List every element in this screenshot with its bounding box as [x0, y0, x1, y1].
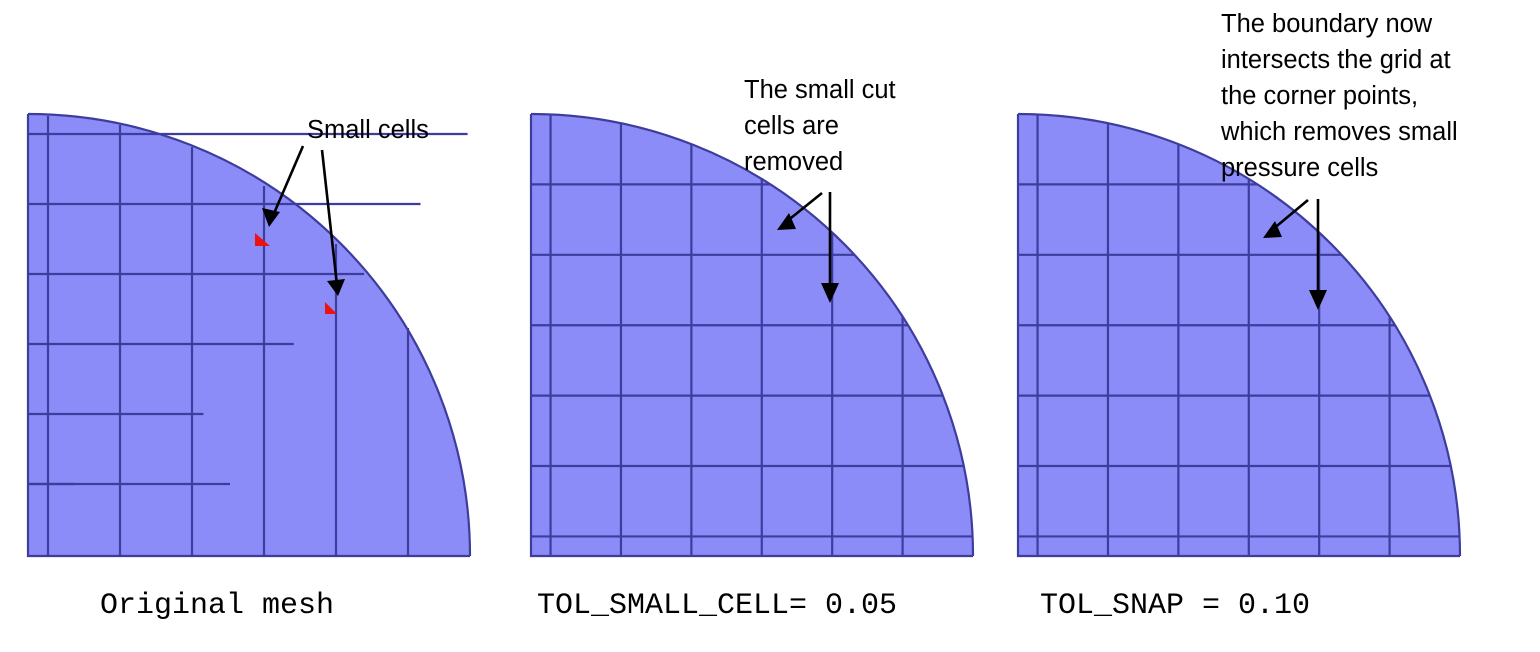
mesh-fill-tol-small-cell: [531, 114, 973, 556]
caption-tol-snap: TOL_SNAP = 0.10: [1040, 589, 1310, 623]
annotation-original-line-0: Small cells: [307, 116, 429, 144]
caption-tol-small-cell: TOL_SMALL_CELL= 0.05: [537, 589, 897, 623]
mesh-region-tol-small-cell: [531, 114, 973, 556]
mesh-region-original: [28, 114, 470, 556]
mesh-comparison-figure: Small cells Original mesh The small cut …: [0, 0, 1540, 652]
annotation-tol-snap-line-4: pressure cells: [1221, 154, 1378, 182]
panel-tol-snap: The boundary now intersects the grid at …: [1018, 10, 1460, 623]
panel-tol-small-cell: The small cut cells are removed TOL_SMAL…: [531, 76, 973, 623]
panel-original-mesh: Small cells Original mesh: [28, 114, 470, 623]
annotation-tol-snap-line-2: the corner points,: [1221, 82, 1418, 110]
caption-original-mesh: Original mesh: [100, 589, 334, 623]
annotation-tol-snap-line-1: intersects the grid at: [1221, 46, 1451, 74]
annotation-tol-snap-line-0: The boundary now: [1221, 10, 1433, 38]
annotation-tol-snap-line-3: which removes small: [1220, 118, 1458, 146]
annotation-tol-small-cell-line-1: cells are: [744, 112, 839, 140]
annotation-tol-small-cell-line-2: removed: [744, 148, 843, 176]
annotation-tol-small-cell-line-0: The small cut: [744, 76, 896, 104]
mesh-fill-original: [28, 114, 470, 556]
